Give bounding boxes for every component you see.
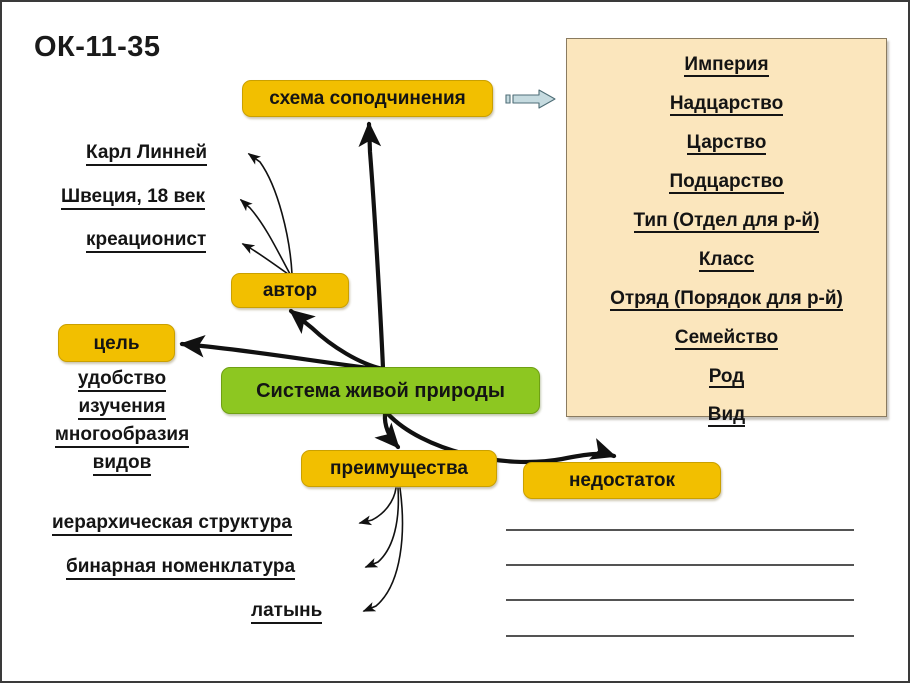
taxonomy-rank: Империя (684, 55, 768, 77)
answer-line[interactable] (506, 635, 854, 637)
label-author-detail-sweden: Швеция, 18 век (61, 187, 205, 210)
taxonomy-rank: Класс (699, 250, 754, 272)
answer-line[interactable] (506, 529, 854, 531)
node-disadvantage[interactable]: недостаток (523, 462, 721, 499)
taxonomy-rank: Тип (Отдел для р-й) (634, 211, 820, 233)
connector-author-to-sweden (241, 200, 290, 274)
taxonomy-rank: Надцарство (670, 94, 783, 116)
taxonomy-rank: Семейство (675, 328, 778, 350)
connector-author-to-creationist (243, 244, 288, 274)
taxonomy-rank: Род (709, 367, 745, 389)
label-goal-details: удобство изучения многообразия видов (37, 368, 207, 480)
page-title: ОК-11-35 (34, 31, 161, 64)
node-author[interactable]: автор (231, 273, 349, 308)
label-author-detail-linnaeus: Карл Линней (86, 143, 207, 166)
taxonomy-rank: Отряд (Порядок для р-й) (610, 289, 843, 311)
label-advantage-hierarchical-structure: иерархическая структура (52, 513, 292, 536)
connector-system-to-advantages (385, 414, 398, 447)
connector-author-to-linnaeus (249, 154, 292, 274)
label-author-detail-creationist: креационист (86, 230, 206, 253)
taxonomy-rank: Вид (708, 405, 745, 427)
label-goal-line-4: видов (93, 452, 152, 476)
label-advantage-binomial-nomenclature: бинарная номенклатура (66, 557, 295, 580)
label-goal-line-2: изучения (78, 396, 165, 420)
right-block-arrow-icon (505, 88, 557, 110)
connector-system-to-author (291, 311, 383, 369)
answer-line[interactable] (506, 599, 854, 601)
taxonomy-rank: Подцарство (669, 172, 783, 194)
node-goal[interactable]: цель (58, 324, 175, 362)
connector-advantages-to-hierarchy (360, 488, 396, 523)
connector-advantages-to-latin (364, 488, 402, 611)
node-scheme-of-subordination[interactable]: схема соподчинения (242, 80, 493, 117)
connector-system-to-scheme (369, 124, 383, 368)
label-advantage-latin: латынь (251, 601, 322, 624)
connector-advantages-to-binomial (366, 488, 398, 567)
taxonomy-rank: Царство (687, 133, 767, 155)
node-advantages[interactable]: преимущества (301, 450, 497, 487)
label-goal-line-1: удобство (78, 368, 166, 392)
slide-canvas: ОК-11-35 схема соподчинения автор цель С… (0, 0, 910, 683)
node-system-of-living-nature[interactable]: Система живой природы (221, 367, 540, 414)
taxonomy-rank-panel: Империя Надцарство Царство Подцарство Ти… (566, 38, 887, 417)
answer-line[interactable] (506, 564, 854, 566)
label-goal-line-3: многообразия (55, 424, 189, 448)
